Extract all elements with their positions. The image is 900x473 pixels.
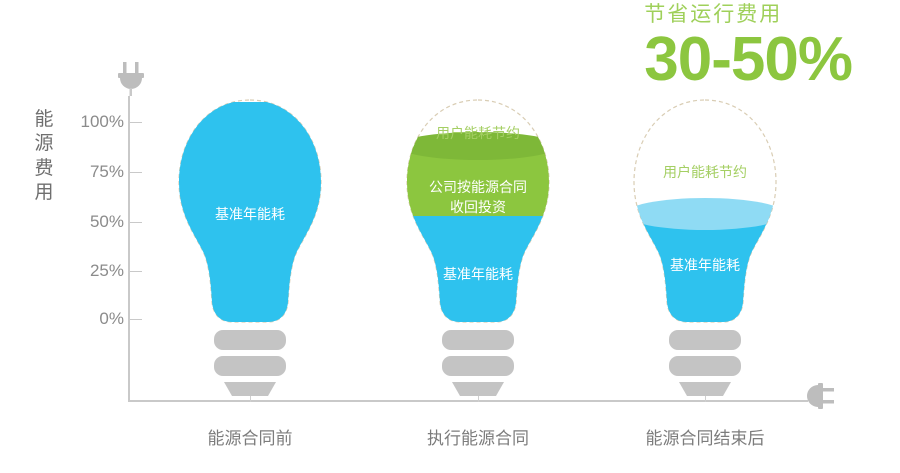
y-tick-mark bbox=[128, 319, 142, 320]
bulb-graphic bbox=[625, 96, 785, 396]
y-tick-mark bbox=[128, 122, 142, 123]
y-axis-title: 能源费用 bbox=[32, 108, 56, 205]
y-tick-label: 75% bbox=[90, 162, 124, 182]
headline-value: 30-50% bbox=[644, 29, 852, 91]
bulb-fill-blue bbox=[170, 102, 330, 324]
bulb-fill-blue bbox=[625, 214, 785, 326]
bulb-base-thread bbox=[669, 356, 741, 376]
y-tick-label: 50% bbox=[90, 212, 124, 232]
bulb-base-thread bbox=[442, 356, 514, 376]
bulb-base-tip bbox=[679, 382, 731, 396]
y-tick-mark bbox=[128, 172, 142, 173]
y-tick-label: 0% bbox=[99, 309, 124, 329]
bulb-base-thread bbox=[442, 330, 514, 350]
bulb-base-thread bbox=[214, 330, 286, 350]
y-tick-label: 100% bbox=[81, 112, 124, 132]
y-tick-label: 25% bbox=[90, 261, 124, 281]
bulb-graphic bbox=[170, 96, 330, 396]
bulb-base-tip bbox=[224, 382, 276, 396]
bulb-base-thread bbox=[214, 356, 286, 376]
x-axis-label-before: 能源合同前 bbox=[150, 424, 350, 449]
power-plug-icon bbox=[114, 62, 148, 96]
bulb-after-contract: 用户能耗节约 基准年能耗 bbox=[625, 96, 785, 396]
y-axis-line bbox=[128, 96, 130, 402]
bulb-green-surface bbox=[398, 132, 558, 160]
bulb-before-contract: 基准年能耗 bbox=[170, 96, 330, 396]
power-plug-icon bbox=[800, 379, 834, 413]
x-axis-label-after: 能源合同结束后 bbox=[605, 424, 805, 449]
x-axis-line bbox=[128, 400, 808, 402]
infographic-canvas: 节省运行费用 30-50% 能源费用 100% 75% 50% 25% 0% bbox=[0, 0, 900, 473]
bulb-fill-blue bbox=[398, 214, 558, 326]
headline-subtitle: 节省运行费用 bbox=[644, 4, 852, 25]
bulb-graphic bbox=[398, 96, 558, 396]
bulb-base-thread bbox=[669, 330, 741, 350]
bulb-liquid-surface bbox=[625, 198, 785, 230]
x-axis-label-during: 执行能源合同 bbox=[378, 424, 578, 449]
headline: 节省运行费用 30-50% bbox=[644, 4, 852, 91]
y-tick-mark bbox=[128, 271, 142, 272]
bulb-base-tip bbox=[452, 382, 504, 396]
bulb-during-contract: 用户能耗节约 公司按能源合同 收回投资 基准年能耗 bbox=[398, 96, 558, 396]
y-tick-mark bbox=[128, 222, 142, 223]
